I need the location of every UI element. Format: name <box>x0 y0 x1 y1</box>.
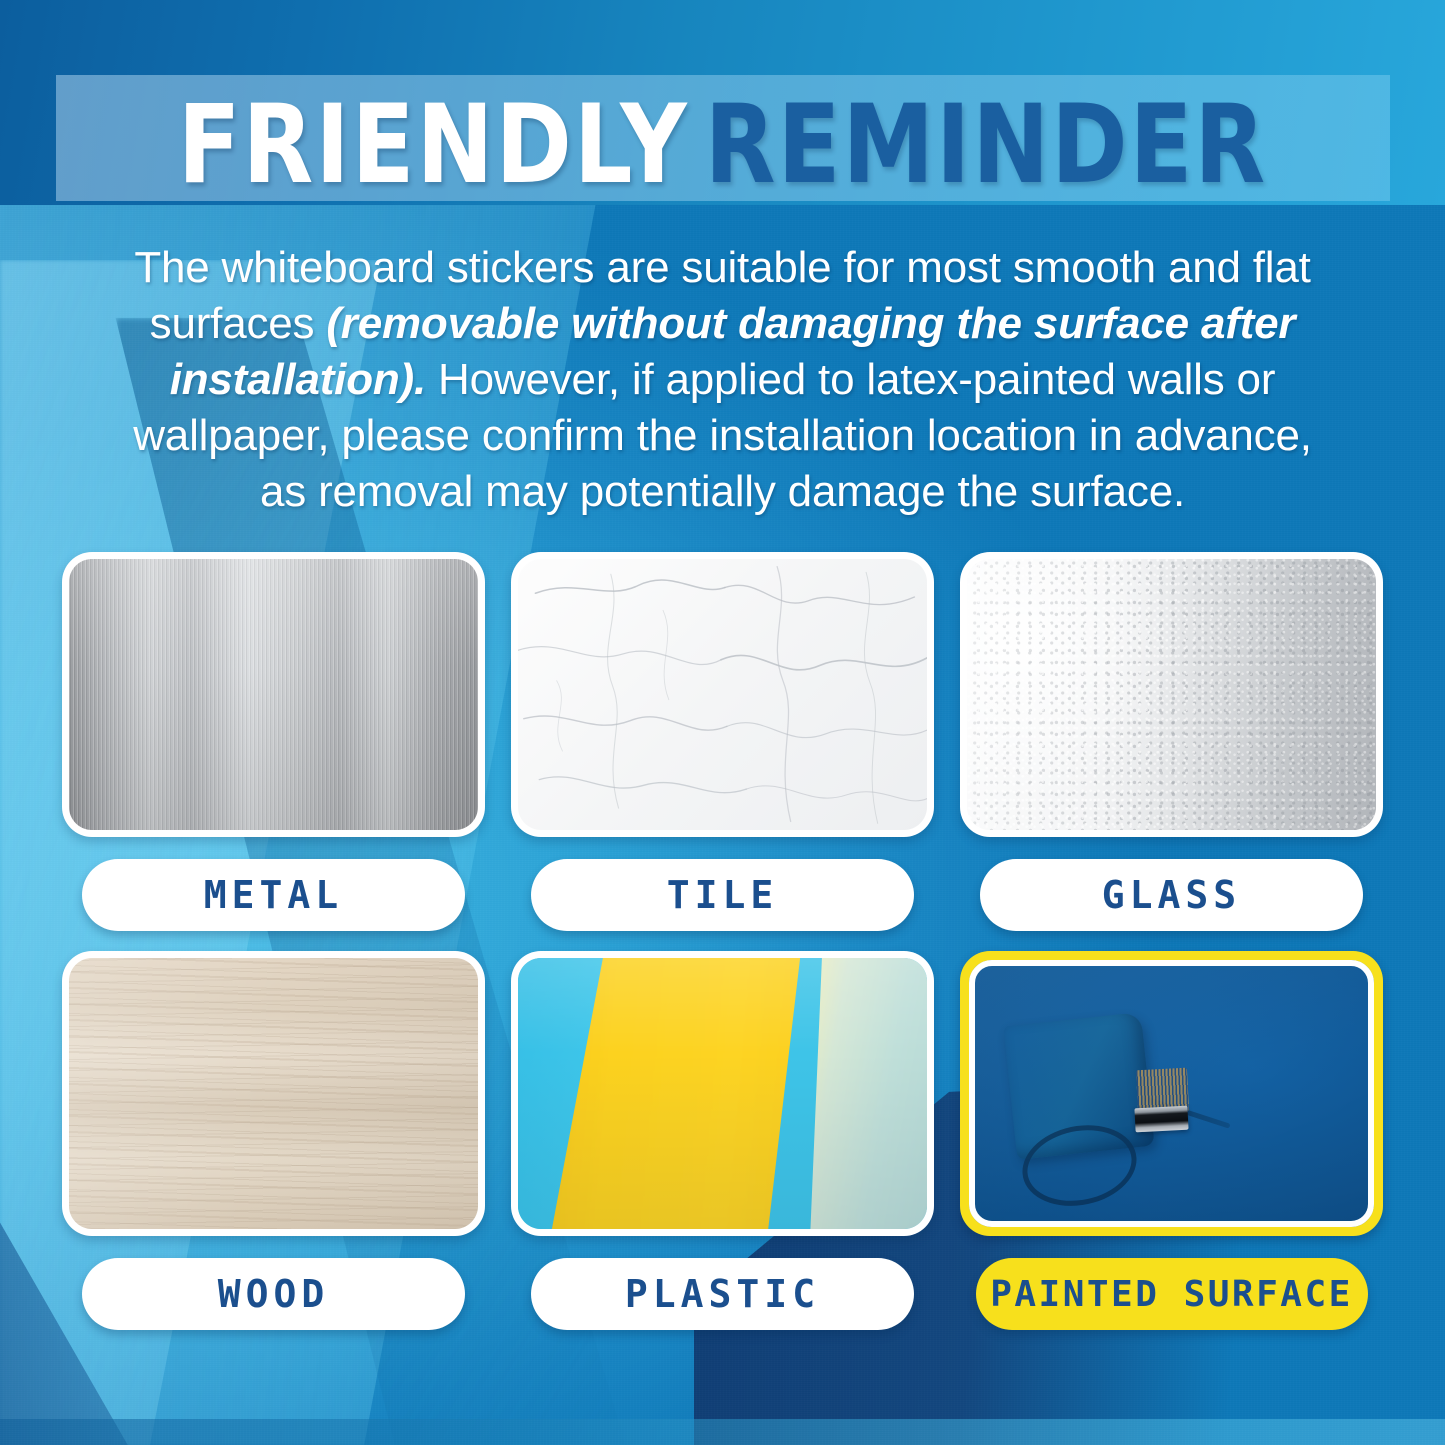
paint-brush-bristles-icon <box>1136 1068 1189 1113</box>
surface-cell-wood[interactable]: WOOD <box>62 951 485 1330</box>
surface-cell-glass[interactable]: GLASS <box>960 552 1383 931</box>
surface-label-wood[interactable]: WOOD <box>82 1258 465 1330</box>
metal-texture-image <box>69 559 478 830</box>
surface-cell-tile[interactable]: TILE <box>511 552 934 931</box>
paint-brush-ferrule-icon <box>1134 1105 1188 1132</box>
surface-grid: METAL <box>62 552 1383 1350</box>
tile-texture-image <box>518 559 927 830</box>
surface-grid-row-2: WOOD PLASTIC <box>62 951 1383 1330</box>
plastic-yellow-band <box>518 958 878 1229</box>
surface-label-glass[interactable]: GLASS <box>980 859 1363 931</box>
surface-swatch-painted-surface[interactable] <box>960 951 1383 1236</box>
surface-grid-row-1: METAL <box>62 552 1383 931</box>
surface-swatch-metal[interactable] <box>62 552 485 837</box>
surface-label-plastic[interactable]: PLASTIC <box>531 1258 914 1330</box>
surface-label-tile[interactable]: TILE <box>531 859 914 931</box>
surface-label-painted-surface[interactable]: PAINTED SURFACE <box>976 1258 1368 1330</box>
plastic-mint-band <box>804 958 927 1229</box>
background-bottom-strip <box>0 1419 1445 1445</box>
paint-can-ring-icon <box>1019 1118 1139 1213</box>
body-paragraph: The whiteboard stickers are suitable for… <box>110 240 1335 520</box>
plastic-texture-image <box>518 958 927 1229</box>
surface-label-metal[interactable]: METAL <box>82 859 465 931</box>
surface-cell-metal[interactable]: METAL <box>62 552 485 931</box>
surface-swatch-tile[interactable] <box>511 552 934 837</box>
wood-texture-image <box>69 958 478 1229</box>
page-title: FRIENDLYREMINDER <box>0 76 1445 215</box>
painted-surface-texture-image <box>969 960 1374 1227</box>
surface-cell-painted-surface[interactable]: PAINTED SURFACE <box>960 951 1383 1330</box>
page-title-word-reminder: REMINDER <box>705 82 1268 208</box>
page-title-word-friendly: FRIENDLY <box>178 82 689 208</box>
glass-texture-image <box>967 559 1376 830</box>
infographic-poster: FRIENDLYREMINDER The whiteboard stickers… <box>0 0 1445 1445</box>
paint-can-icon <box>1003 1012 1154 1159</box>
surface-swatch-glass[interactable] <box>960 552 1383 837</box>
paint-brush-handle-icon <box>1145 1096 1231 1128</box>
surface-swatch-wood[interactable] <box>62 951 485 1236</box>
marble-veins-icon <box>518 559 927 830</box>
surface-swatch-plastic[interactable] <box>511 951 934 1236</box>
surface-cell-plastic[interactable]: PLASTIC <box>511 951 934 1330</box>
plastic-cyan-band <box>518 958 657 1229</box>
